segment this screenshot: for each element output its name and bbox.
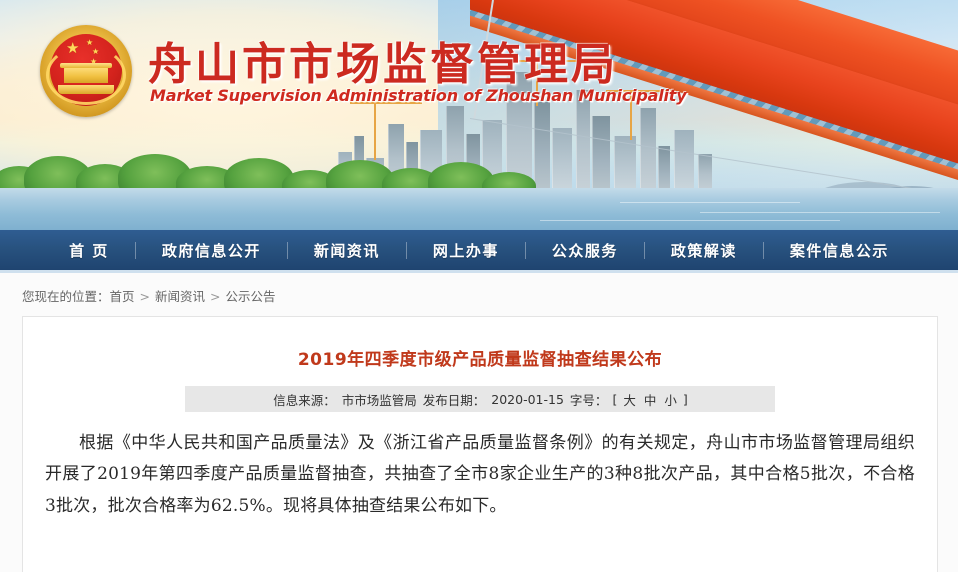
nav-item-case-disclosure[interactable]: 案件信息公示 xyxy=(764,240,915,261)
nav-item-public-service[interactable]: 公众服务 xyxy=(526,240,644,261)
nav-item-news[interactable]: 新闻资讯 xyxy=(288,240,406,261)
article-title: 2019年四季度市级产品质量监督抽查结果公布 xyxy=(23,345,937,370)
org-title-cn: 舟山市市场监督管理局 xyxy=(148,28,618,92)
water-surface xyxy=(0,188,958,230)
article-meta-bar: 信息来源：市市场监管局 发布日期：2020-01-15 字号：[大中小] xyxy=(185,386,775,412)
fontsize-option-medium[interactable]: 中 xyxy=(640,390,661,409)
nav-item-online-service[interactable]: 网上办事 xyxy=(407,240,525,261)
article-card: 2019年四季度市级产品质量监督抽查结果公布 信息来源：市市场监管局 发布日期：… xyxy=(22,316,938,572)
page-root: ★ ★ ★ ★ ★ 舟山市市场监督管理局 Market Supervision … xyxy=(0,0,958,572)
fontsize-option-large[interactable]: 大 xyxy=(619,390,640,409)
fontsize-label: 字号： xyxy=(567,390,611,409)
main-navigation: 首 页 政府信息公开 新闻资讯 网上办事 公众服务 政策解读 案件信息公示 xyxy=(0,230,958,273)
breadcrumb-item-announcements[interactable]: 公示公告 xyxy=(226,289,276,304)
breadcrumb-item-home[interactable]: 首页 xyxy=(110,289,135,304)
nav-item-policy[interactable]: 政策解读 xyxy=(645,240,763,261)
article-body: 根据《中华人民共和国产品质量法》及《浙江省产品质量监督条例》的有关规定，舟山市市… xyxy=(45,428,915,522)
source-value: 市市场监管局 xyxy=(339,390,420,409)
nav-item-gov-info[interactable]: 政府信息公开 xyxy=(136,240,287,261)
bracket-close: ] xyxy=(681,392,690,407)
nav-item-home[interactable]: 首 页 xyxy=(43,240,135,261)
date-value: 2020-01-15 xyxy=(488,392,567,407)
fontsize-option-small[interactable]: 小 xyxy=(660,390,681,409)
bracket-open: [ xyxy=(610,392,619,407)
org-title-en: Market Supervision Administration of Zho… xyxy=(150,86,686,105)
breadcrumb-separator: > xyxy=(205,289,225,304)
nav-list: 首 页 政府信息公开 新闻资讯 网上办事 公众服务 政策解读 案件信息公示 xyxy=(43,240,915,261)
source-label: 信息来源： xyxy=(270,390,339,409)
date-label: 发布日期： xyxy=(420,390,489,409)
breadcrumb-item-news[interactable]: 新闻资讯 xyxy=(155,289,205,304)
breadcrumb-lead: 您现在的位置： xyxy=(22,289,110,304)
site-banner: ★ ★ ★ ★ ★ 舟山市市场监督管理局 Market Supervision … xyxy=(0,0,958,230)
breadcrumb: 您现在的位置：首页>新闻资讯>公示公告 xyxy=(0,273,958,316)
national-emblem-icon: ★ ★ ★ ★ ★ xyxy=(40,25,132,117)
breadcrumb-separator: > xyxy=(135,289,155,304)
